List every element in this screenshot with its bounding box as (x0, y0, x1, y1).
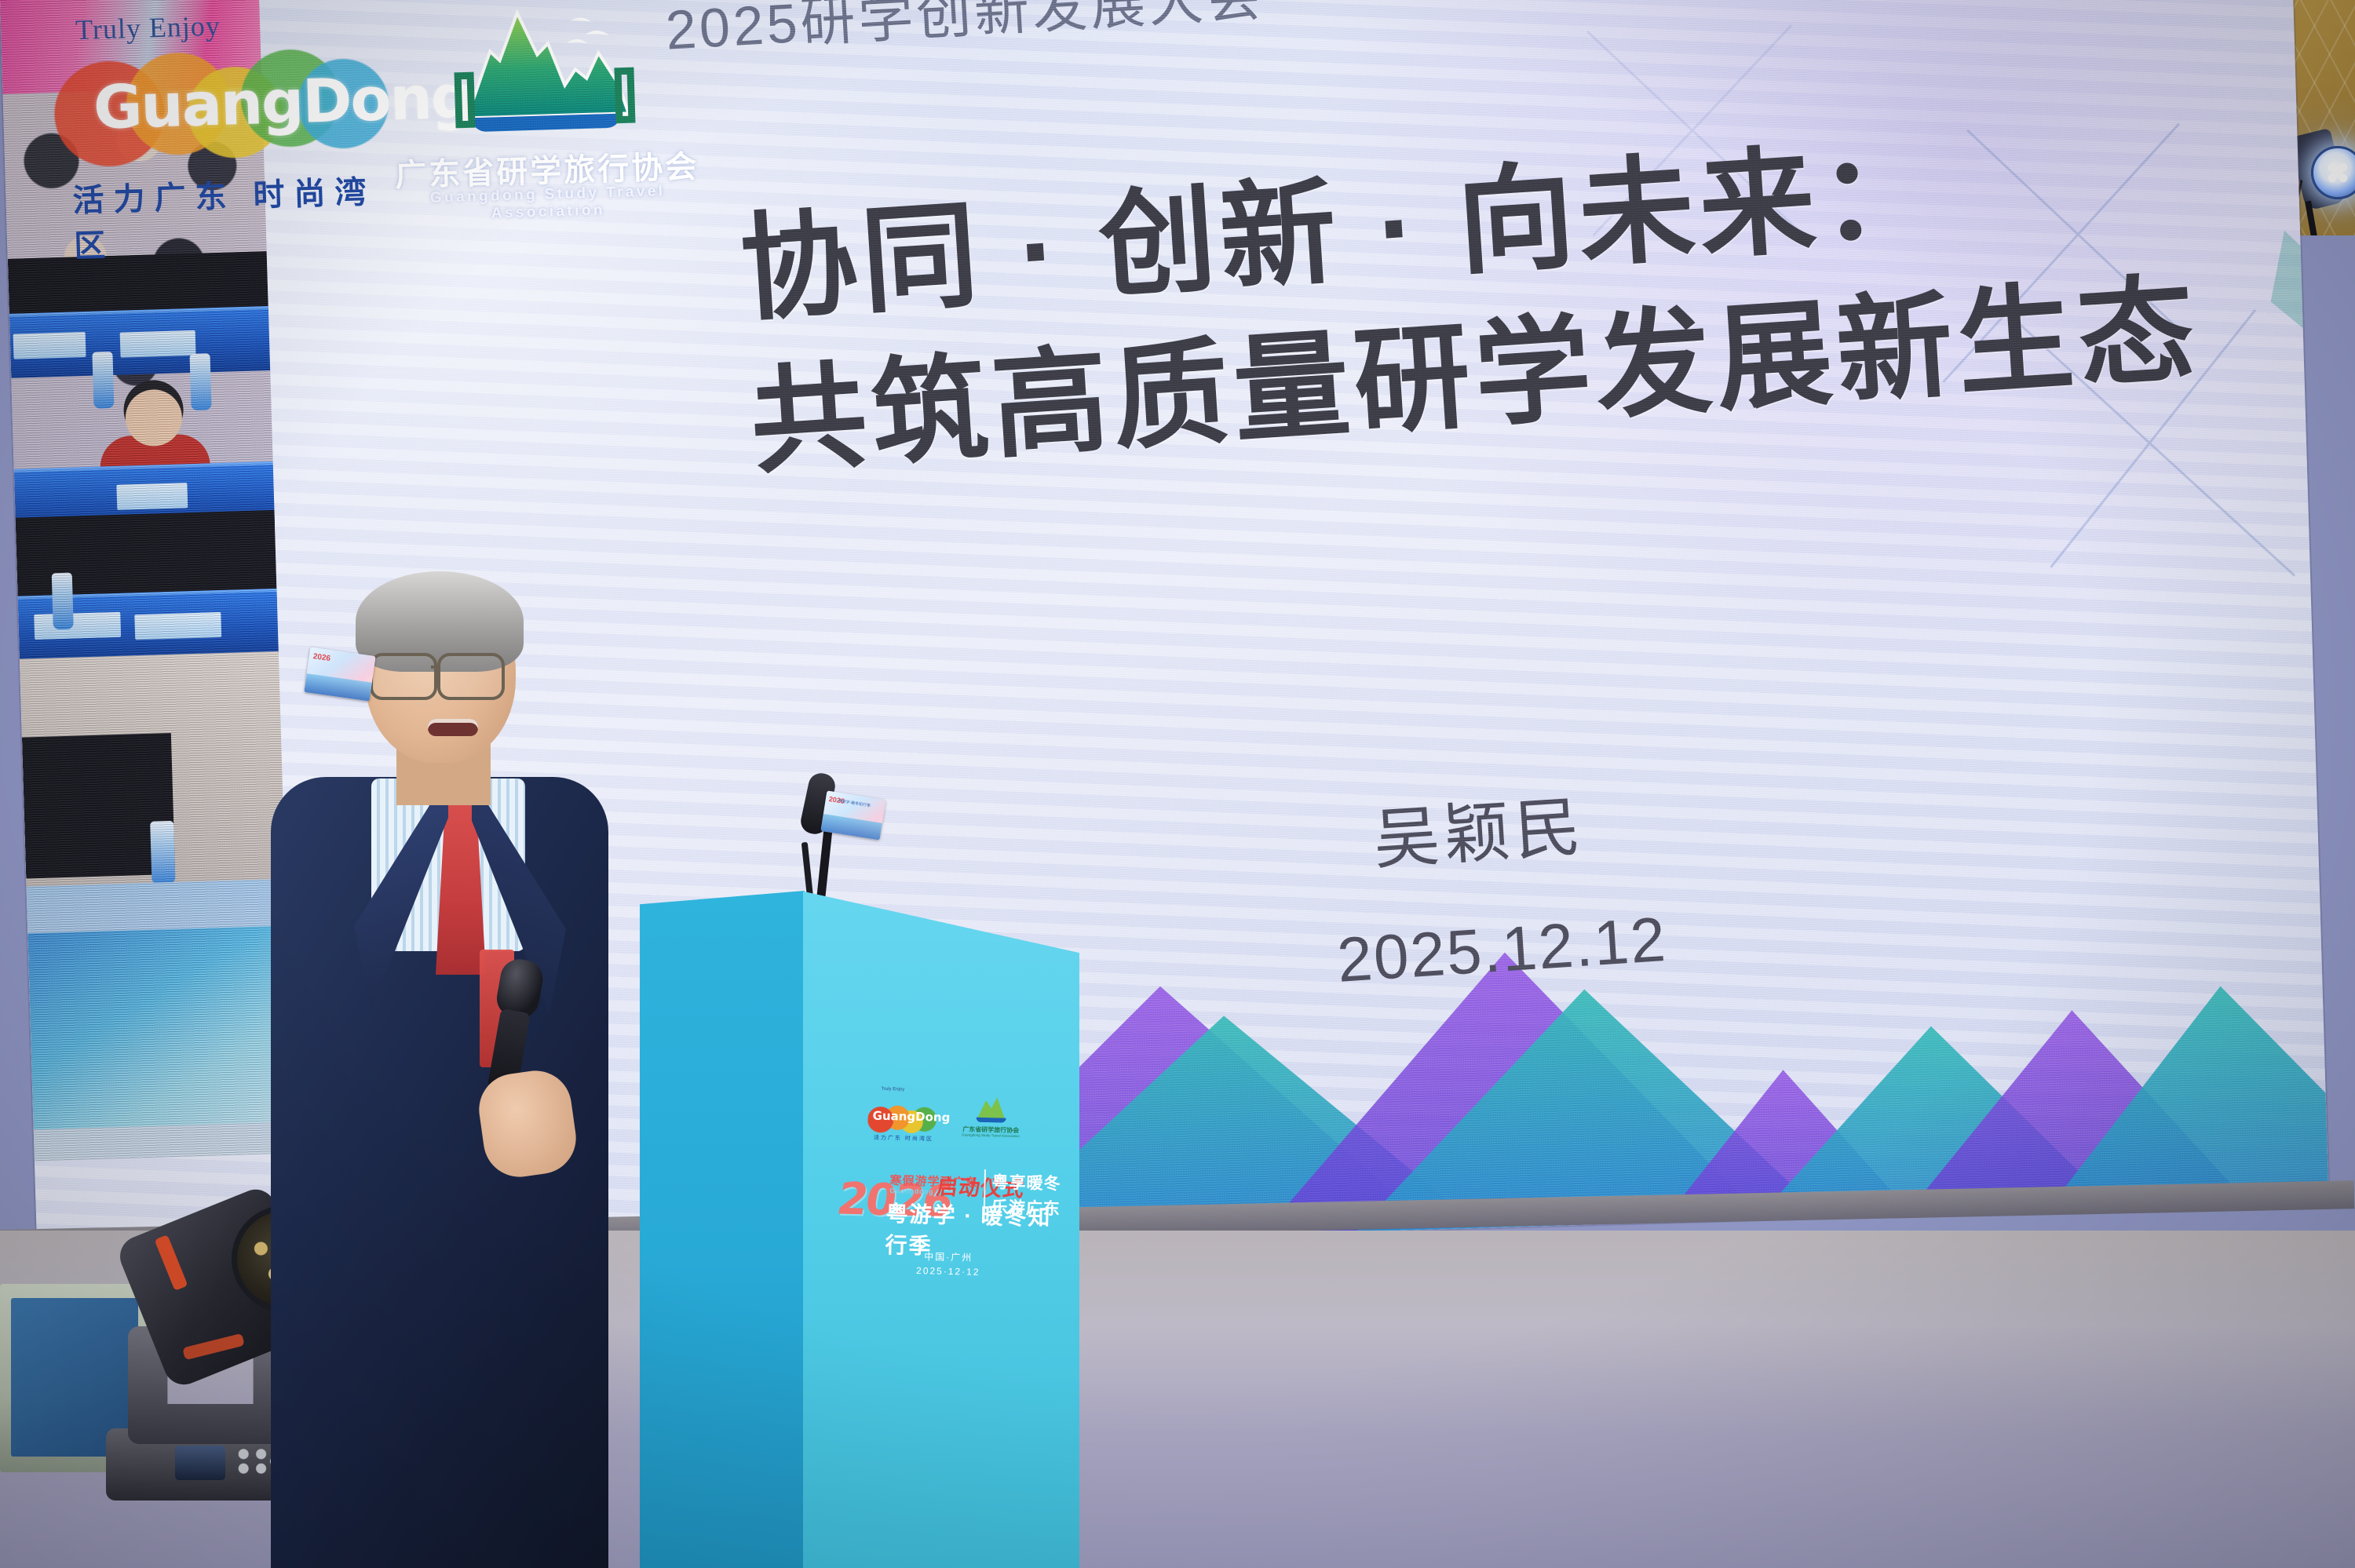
speaker-person: 2026 (279, 581, 608, 1568)
poster-side-line-1: 粤享暖冬 (991, 1169, 1061, 1194)
handheld-flag-band (304, 673, 372, 701)
conference-name: 2025研学创新发展大会 (663, 0, 1266, 66)
eyeglasses-icon (370, 653, 519, 697)
feed-seat-row-dark-2 (16, 510, 277, 612)
main-title-block: 协同 · 创新 · 向未来： 共筑高质量研学发展新生态 (736, 107, 2104, 500)
podium-assoc-en: Guangdong Study Travel Association (955, 1132, 1026, 1138)
podium-association-logo: 广东省研学旅行协会 Guangdong Study Travel Associa… (955, 1093, 1028, 1145)
mic-flag-handheld: 2026 (304, 647, 375, 701)
feed-attendee-red (100, 433, 214, 570)
podium-face-left (640, 891, 805, 1568)
handheld-flag-year: 2026 (312, 652, 331, 663)
feed-screen-reflection (27, 926, 292, 1130)
podium-gd-wordmark: GuangDong (872, 1109, 943, 1125)
podium-gd-tagline-en: Truly Enjoy (881, 1087, 904, 1092)
feed-water-bottle (189, 353, 211, 410)
podium-poster-logos: Truly Enjoy GuangDong 活力广东 时尚湾区 广东省研学旅行协… (837, 1081, 1066, 1165)
stage-photo: Truly Enjoy GuangDong 活力广东 时尚湾区 (0, 0, 2355, 1568)
feed-water-bottle (150, 821, 175, 884)
mountain-book-icon (969, 1094, 1013, 1123)
feed-dark-object (22, 733, 175, 879)
feed-nameplate (120, 330, 196, 358)
podium: 2026 粤游学·暖冬知行季 Truly Enjoy GuangDong 活力广… (640, 891, 1079, 1568)
mountain-book-birds-icon (416, 0, 671, 143)
poster-side-line-2: 乐游广东 (991, 1194, 1061, 1220)
poster-date: 2025·12·12 (834, 1263, 1062, 1279)
feed-floor (20, 651, 286, 895)
speaker-name: 吴颖民 (1371, 774, 1588, 882)
guangdong-tagline-cn: 活力广东 时尚湾区 (72, 166, 381, 267)
mic-flag-sub: 粤游学·暖冬知行季 (838, 798, 871, 808)
feed-nameplate (116, 483, 188, 510)
feed-water-bottle (92, 352, 114, 409)
feed-water-bottle (52, 573, 74, 630)
guangdong-tagline-en: Truly Enjoy (75, 9, 221, 46)
feed-desk-row-1 (0, 305, 294, 379)
feed-desk-row-3 (2, 588, 294, 662)
feed-nameplate (13, 332, 86, 359)
podium-poster: Truly Enjoy GuangDong 活力广东 时尚湾区 广东省研学旅行协… (833, 1081, 1066, 1322)
guangdong-tourism-logo: Truly Enjoy GuangDong 活力广东 时尚湾区 (43, 0, 379, 224)
feed-nameplate (34, 612, 121, 640)
person-mouth (428, 719, 478, 736)
podium-gd-tagline-cn: 活力广东 时尚湾区 (874, 1134, 933, 1143)
microphone-stand: 2026 粤游学·暖冬知行季 (789, 773, 883, 906)
podium-guangdong-logo: Truly Enjoy GuangDong 活力广东 时尚湾区 (867, 1094, 939, 1141)
feed-desk-row-2 (0, 461, 294, 534)
light-control-panel (175, 1446, 225, 1480)
feed-nameplate (134, 612, 221, 640)
feed-floor-lower (27, 879, 294, 1161)
